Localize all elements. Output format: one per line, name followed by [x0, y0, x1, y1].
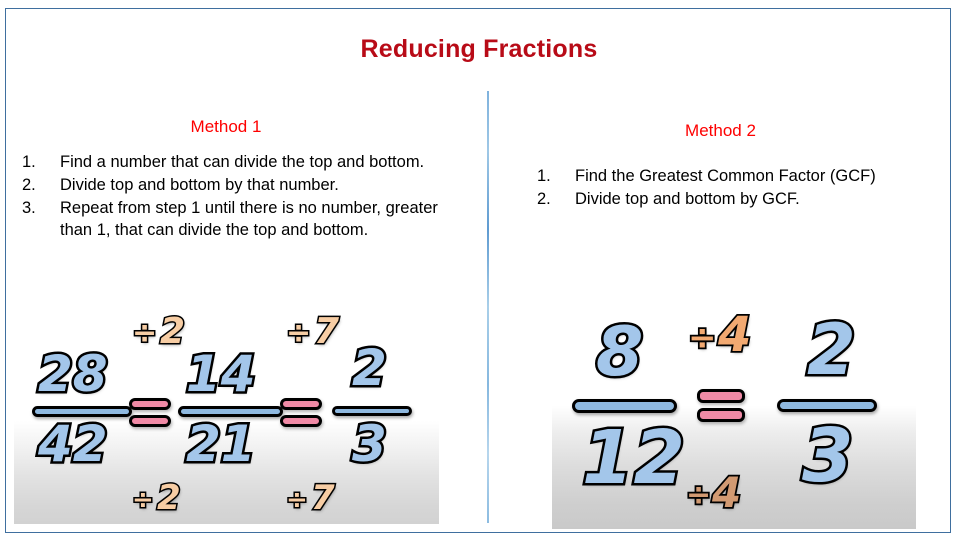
- fraction-3-numerator: 2: [352, 343, 387, 393]
- list-item: 2. Divide top and bottom by GCF.: [533, 189, 943, 211]
- fraction-2-denominator: 3: [802, 419, 854, 493]
- list-marker: 1.: [537, 166, 563, 188]
- list-item: 3. Repeat from step 1 until there is no …: [18, 198, 443, 242]
- method-2-figure: ÷ 4 8 12 2 3 ÷ 4: [552, 309, 916, 529]
- list-marker: 2.: [537, 189, 563, 211]
- list-item-text: Find the Greatest Common Factor (GCF): [575, 167, 876, 185]
- fraction-2-numerator: 2: [807, 315, 856, 385]
- list-item: 2. Divide top and bottom by that number.: [18, 175, 443, 197]
- method-2-steps: 1. Find the Greatest Common Factor (GCF)…: [533, 166, 943, 212]
- list-item: 1. Find the Greatest Common Factor (GCF): [533, 166, 943, 188]
- fraction-1-numerator: 28: [38, 349, 108, 399]
- page-title: Reducing Fractions: [6, 35, 952, 64]
- method-1-figure: ÷ 2 ÷ 7 28 42 14 21 2: [14, 309, 439, 524]
- fraction-3-denominator: 3: [352, 419, 387, 469]
- equals-sign-2: [280, 398, 322, 427]
- equals-sign-1: [697, 389, 745, 422]
- divide-symbol-top-2: ÷: [286, 319, 311, 349]
- divisor-bottom-1: 2: [157, 481, 181, 515]
- method-1-steps: 1. Find a number that can divide the top…: [18, 152, 443, 243]
- divisor-top-2: 7: [314, 314, 339, 350]
- column-divider: [487, 91, 489, 523]
- method-2-heading: Method 2: [489, 121, 952, 141]
- equals-sign-1: [129, 398, 171, 427]
- slide-page: Reducing Fractions Method 1 1. Find a nu…: [5, 8, 951, 533]
- list-item-text: Divide top and bottom by GCF.: [575, 190, 800, 208]
- divisor-top-1: 2: [160, 314, 185, 350]
- list-item-text: Divide top and bottom by that number.: [60, 176, 339, 194]
- fraction-1-numerator: 8: [596, 319, 643, 387]
- fraction-2-denominator: 21: [186, 419, 256, 469]
- divide-symbol-top-1: ÷: [132, 319, 157, 349]
- divisor-top-1: 4: [718, 311, 751, 359]
- list-item: 1. Find a number that can divide the top…: [18, 152, 443, 174]
- divide-symbol-bottom-2: ÷: [286, 487, 308, 513]
- list-item-text: Find a number that can divide the top an…: [60, 153, 424, 171]
- divide-symbol-bottom-1: ÷: [132, 487, 154, 513]
- fraction-2-bar: [777, 399, 877, 412]
- divisor-bottom-2: 7: [311, 481, 335, 515]
- list-marker: 2.: [22, 175, 48, 197]
- list-marker: 1.: [22, 152, 48, 174]
- method-1-heading: Method 1: [6, 117, 446, 137]
- divide-symbol-top-1: ÷: [688, 321, 717, 355]
- fraction-1-denominator: 42: [38, 419, 108, 469]
- divisor-bottom-1: 4: [712, 472, 741, 514]
- list-item-text: Repeat from step 1 until there is no num…: [60, 199, 438, 239]
- fraction-1-denominator: 12: [582, 421, 685, 495]
- list-marker: 3.: [22, 198, 48, 220]
- fraction-1-bar: [572, 399, 677, 413]
- divide-symbol-bottom-1: ÷: [686, 481, 711, 511]
- fraction-2-numerator: 14: [186, 349, 256, 399]
